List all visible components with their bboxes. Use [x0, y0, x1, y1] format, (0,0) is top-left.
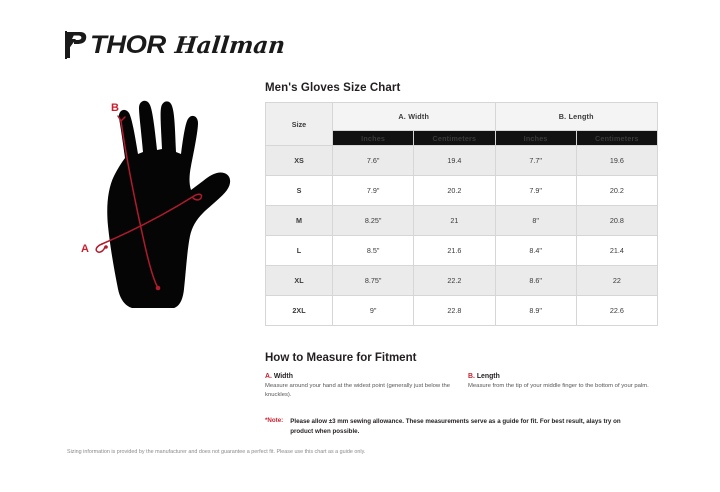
brand-bar: THOR Hallman [62, 30, 285, 60]
thor-helmet-icon [62, 30, 88, 60]
note-text: Please allow ±3 mm sewing allowance. The… [290, 417, 640, 437]
width-arrow-head-left [96, 244, 105, 252]
cell-size: S [266, 176, 333, 206]
column-header-length-inches: Inches [495, 131, 576, 146]
measure-width-text: Measure around your hand at the widest p… [265, 382, 455, 400]
table-row: XS7.6"19.47.7"19.6 [266, 146, 658, 176]
measure-length-heading: B. Length [468, 373, 658, 380]
column-header-width-centimeters: Centimeters [414, 131, 495, 146]
cell-length-inches: 8.9" [495, 296, 576, 326]
page-title: Men's Gloves Size Chart [265, 82, 658, 94]
cell-length-inches: 7.7" [495, 146, 576, 176]
how-to-measure-section: How to Measure for Fitment A. Width Meas… [265, 352, 658, 437]
cell-width-inches: 7.9" [333, 176, 414, 206]
cell-width-inches: 8.5" [333, 236, 414, 266]
hand-measurement-diagram: B A [70, 96, 266, 311]
cell-length-centimeters: 22.6 [576, 296, 657, 326]
column-header-length-centimeters: Centimeters [576, 131, 657, 146]
cell-length-centimeters: 21.4 [576, 236, 657, 266]
cell-size: XS [266, 146, 333, 176]
cell-length-centimeters: 20.8 [576, 206, 657, 236]
thor-logo: THOR [62, 30, 159, 60]
measure-width-block: A. Width Measure around your hand at the… [265, 373, 455, 400]
measure-width-heading: A. Width [265, 373, 455, 380]
cell-width-centimeters: 20.2 [414, 176, 495, 206]
table-row: 2XL9"22.88.9"22.6 [266, 296, 658, 326]
table-body: XS7.6"19.47.7"19.6S7.9"20.27.9"20.2M8.25… [266, 146, 658, 326]
cell-size: L [266, 236, 333, 266]
measure-columns: A. Width Measure around your hand at the… [265, 373, 658, 400]
table-row: S7.9"20.27.9"20.2 [266, 176, 658, 206]
measure-length-letter: B. [468, 373, 475, 380]
table-header: Size A. Width B. Length Inches Centimete… [266, 103, 658, 146]
measure-width-letter: A. [265, 373, 272, 380]
length-marker-label: B [111, 102, 119, 114]
width-marker-label: A [81, 243, 89, 255]
measure-length-block: B. Length Measure from the tip of your m… [468, 373, 658, 400]
table-header-row-groups: Size A. Width B. Length [266, 103, 658, 131]
cell-size: M [266, 206, 333, 236]
measure-width-name: Width [274, 373, 293, 380]
cell-length-inches: 8" [495, 206, 576, 236]
table-row: M8.25"218"20.8 [266, 206, 658, 236]
note-row: *Note: Please allow ±3 mm sewing allowan… [265, 417, 658, 437]
note-label: *Note: [265, 417, 283, 437]
column-header-size: Size [266, 103, 333, 146]
cell-width-inches: 8.75" [333, 266, 414, 296]
length-line-end-dot [156, 286, 161, 291]
hallman-wordmark: Hallman [174, 34, 286, 57]
cell-width-centimeters: 19.4 [414, 146, 495, 176]
size-chart-panel: Men's Gloves Size Chart Size A. Width B.… [265, 82, 658, 326]
cell-length-inches: 8.4" [495, 236, 576, 266]
cell-size: 2XL [266, 296, 333, 326]
table-row: XL8.75"22.28.6"22 [266, 266, 658, 296]
cell-width-inches: 9" [333, 296, 414, 326]
cell-size: XL [266, 266, 333, 296]
width-line-end-dot [104, 245, 108, 249]
how-to-measure-title: How to Measure for Fitment [265, 352, 658, 364]
cell-width-centimeters: 21.6 [414, 236, 495, 266]
column-group-width: A. Width [333, 103, 496, 131]
column-header-width-inches: Inches [333, 131, 414, 146]
cell-width-centimeters: 22.2 [414, 266, 495, 296]
cell-width-inches: 7.6" [333, 146, 414, 176]
cell-length-inches: 7.9" [495, 176, 576, 206]
measure-length-name: Length [477, 373, 500, 380]
thor-wordmark: THOR [90, 33, 166, 58]
cell-width-inches: 8.25" [333, 206, 414, 236]
size-chart-table: Size A. Width B. Length Inches Centimete… [265, 102, 658, 326]
cell-length-centimeters: 20.2 [576, 176, 657, 206]
hand-silhouette-icon: B A [70, 96, 266, 311]
footer-disclaimer: Sizing information is provided by the ma… [67, 448, 397, 457]
cell-width-centimeters: 21 [414, 206, 495, 236]
column-group-length: B. Length [495, 103, 658, 131]
cell-length-centimeters: 19.6 [576, 146, 657, 176]
table-row: L8.5"21.68.4"21.4 [266, 236, 658, 266]
measure-length-text: Measure from the tip of your middle fing… [468, 382, 658, 391]
cell-length-centimeters: 22 [576, 266, 657, 296]
cell-width-centimeters: 22.8 [414, 296, 495, 326]
cell-length-inches: 8.6" [495, 266, 576, 296]
